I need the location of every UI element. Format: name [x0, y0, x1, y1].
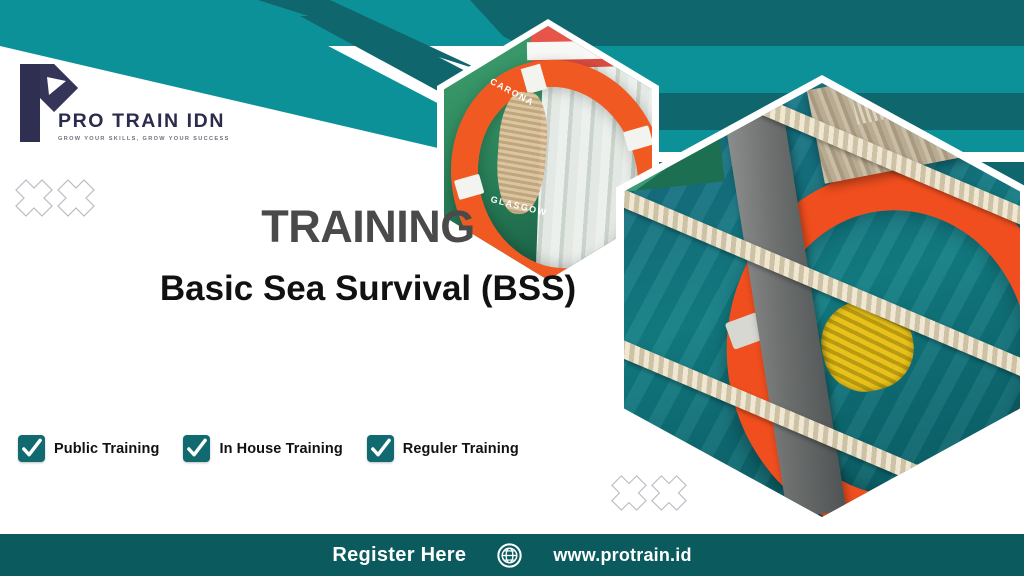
page-eyebrow: TRAINING	[116, 204, 620, 249]
option-public-training[interactable]: Public Training	[18, 435, 159, 462]
logo-wordmark: PRO TRAIN IDN GROW YOUR SKILLS, GROW YOU…	[58, 110, 248, 142]
check-icon	[369, 437, 392, 460]
check-icon	[185, 437, 208, 460]
globe-icon	[496, 542, 523, 569]
logo-tagline: GROW YOUR SKILLS, GROW YOUR SUCCESS	[58, 136, 248, 142]
x-pattern-decoration-bottom	[610, 474, 688, 512]
poster-canvas: CARONA GLASGOW PRO TRAI	[0, 0, 1024, 576]
option-reguler-training[interactable]: Reguler Training	[367, 435, 519, 462]
x-shape-icon	[610, 474, 648, 512]
option-label: Public Training	[54, 441, 159, 457]
brand-logo[interactable]: PRO TRAIN IDN GROW YOUR SKILLS, GROW YOU…	[14, 62, 244, 162]
training-type-options: Public Training In House Training Regule…	[18, 435, 519, 462]
page-title: Basic Sea Survival (BSS)	[116, 270, 620, 309]
register-here-label[interactable]: Register Here	[332, 544, 466, 567]
checkbox-checked-icon[interactable]	[367, 435, 394, 462]
footer-bar: Register Here www.protrain.id	[0, 534, 1024, 576]
option-in-house-training[interactable]: In House Training	[183, 435, 342, 462]
website-url[interactable]: www.protrain.id	[553, 545, 691, 566]
check-icon	[20, 437, 43, 460]
checkbox-checked-icon[interactable]	[183, 435, 210, 462]
option-label: Reguler Training	[403, 441, 519, 457]
lifebuoy-strap	[521, 64, 547, 95]
x-shape-icon	[650, 474, 688, 512]
checkbox-checked-icon[interactable]	[18, 435, 45, 462]
option-label: In House Training	[219, 441, 342, 457]
logo-name: PRO TRAIN IDN	[58, 110, 248, 133]
headline-block: TRAINING Basic Sea Survival (BSS)	[0, 204, 620, 309]
